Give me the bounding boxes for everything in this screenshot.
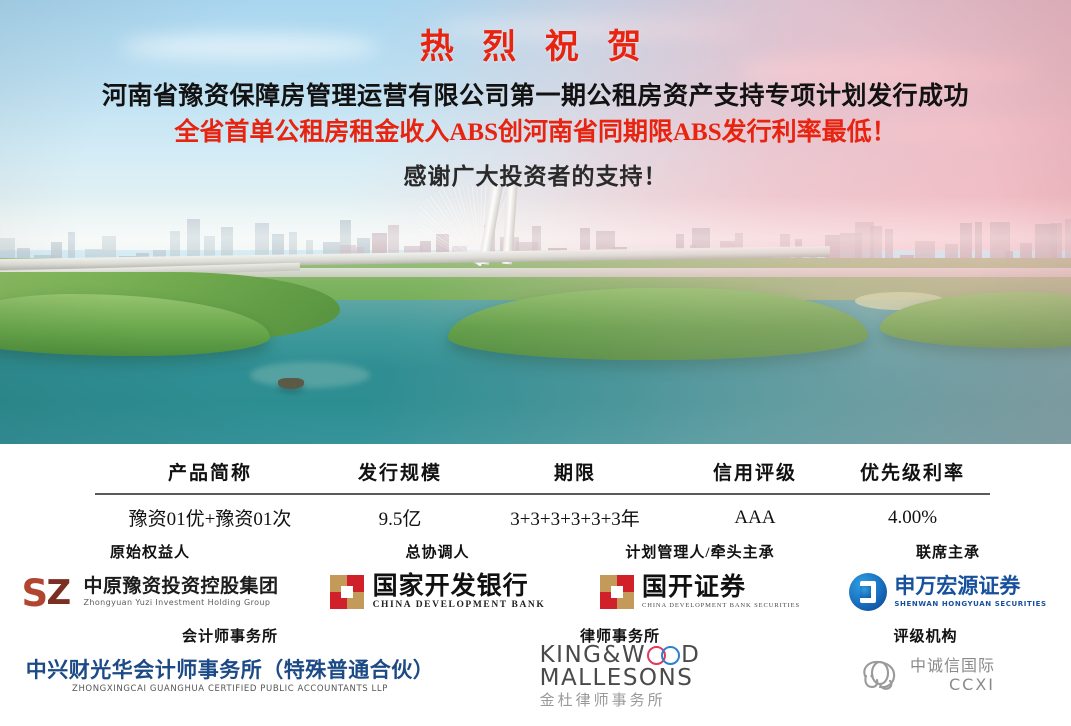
- partner-role-label: 联席主承: [916, 541, 980, 562]
- elephant-icon: [856, 656, 904, 696]
- partner-name-cn: 国家开发银行: [373, 573, 546, 599]
- table-cell: 4.00%: [835, 494, 990, 537]
- product-spec-table: 产品简称 发行规模 期限 信用评级 优先级利率 豫资01优+豫资01次 9.5亿…: [95, 452, 990, 537]
- kwm-text-part-1: KING&W: [540, 644, 647, 667]
- headline-title: 热 烈 祝 贺: [0, 28, 1071, 67]
- boat-wake: [250, 362, 370, 388]
- partner-name-en: CHINA DEVELOPMENT BANK: [373, 601, 546, 611]
- table-cell: 3+3+3+3+3+3年: [475, 494, 675, 537]
- partner-role-label: 评级机构: [893, 625, 957, 646]
- ccxi-logo: 中诚信国际 CCXI: [856, 653, 995, 699]
- syz-logo: SZ 中原豫资投资控股集团 Zhongyuan Yuzi Investment …: [21, 569, 278, 615]
- cdb-square-icon: [330, 575, 364, 609]
- partner-row-primary: 原始权益人 SZ 中原豫资投资控股集团 Zhongyuan Yuzi Inves…: [0, 541, 1071, 615]
- boat: [278, 378, 304, 389]
- headline-line-2: 全省首单公租房租金收入ABS创河南省同期限ABS发行利率最低！: [0, 117, 1071, 148]
- syz-mark-icon: SZ: [21, 575, 75, 609]
- table-header-cell: 期限: [475, 452, 675, 494]
- headline-line-3: 感谢广大投资者的支持！: [0, 157, 1071, 191]
- partner-name-en: SHENWAN HONGYUAN SECURITIES: [894, 601, 1046, 608]
- table-header-cell: 产品简称: [95, 452, 325, 494]
- cdb-square-icon: [600, 575, 634, 609]
- shenwan-hongyuan-logo: 申万宏源证券 SHENWAN HONGYUAN SECURITIES: [849, 569, 1046, 615]
- table-cell: 9.5亿: [325, 494, 475, 537]
- kwm-text-part-3: MALLESONS: [540, 667, 694, 690]
- headline-line-1: 河南省豫资保障房管理运营有限公司第一期公租房资产支持专项计划发行成功: [0, 81, 1071, 112]
- king-wood-mallesons-logo: KING&W D MALLESONS 金杜律师事务所: [540, 653, 701, 699]
- kwm-blue-ring-icon: [661, 646, 680, 665]
- partner-rating-agency: 评级机构: [780, 625, 1071, 699]
- partner-coordinator: 总协调人 国家开发银行 CHINA DEVELOPMENT BANK: [300, 541, 575, 615]
- partner-law-firm: 律师事务所 KING&W D MALLESONS 金杜律师事务所: [460, 625, 780, 699]
- partner-name-cn: 申万宏源证券: [894, 576, 1046, 597]
- table-row: 豫资01优+豫资01次 9.5亿 3+3+3+3+3+3年 AAA 4.00%: [95, 494, 990, 537]
- partner-name-cn: 中原豫资投资控股集团: [83, 577, 278, 597]
- partner-name-en: CHINA DEVELOPMENT BANK SECURITIES: [642, 603, 800, 610]
- kwm-text-part-2: D: [681, 644, 700, 667]
- partner-role-label: 会计师事务所: [182, 625, 278, 646]
- table-header-row: 产品简称 发行规模 期限 信用评级 优先级利率: [95, 452, 990, 494]
- table-header-cell: 优先级利率: [835, 452, 990, 494]
- partner-role-label: 总协调人: [405, 541, 469, 562]
- cdb-securities-logo: 国开证券 CHINA DEVELOPMENT BANK SECURITIES: [600, 569, 800, 615]
- partner-name-en: Zhongyuan Yuzi Investment Holding Group: [83, 599, 278, 607]
- partner-name-en: CCXI: [949, 677, 995, 694]
- partner-name-cn: 中诚信国际: [910, 658, 995, 675]
- congratulations-poster: 热 烈 祝 贺 河南省豫资保障房管理运营有限公司第一期公租房资产支持专项计划发行…: [0, 0, 1071, 726]
- shenwan-circle-icon: [849, 573, 887, 611]
- partner-name-en: ZHONGXINGCAI GUANGHUA CERTIFIED PUBLIC A…: [72, 685, 388, 694]
- zhongxingcai-guanghua-logo: 中兴财光华会计师事务所（特殊普通合伙） ZHONGXINGCAI GUANGHU…: [26, 653, 435, 699]
- partner-auditor: 会计师事务所 中兴财光华会计师事务所（特殊普通合伙） ZHONGXINGCAI …: [0, 625, 460, 699]
- table-header-cell: 发行规模: [325, 452, 475, 494]
- partner-joint-lead: 联席主承 申万宏源证券 SHENWAN HONGYUAN SECURITIES: [825, 541, 1071, 615]
- partner-originator: 原始权益人 SZ 中原豫资投资控股集团 Zhongyuan Yuzi Inves…: [0, 541, 300, 615]
- partner-name-cn: 中兴财光华会计师事务所（特殊普通合伙）: [26, 659, 435, 681]
- table-header-cell: 信用评级: [675, 452, 835, 494]
- info-panel: 产品简称 发行规模 期限 信用评级 优先级利率 豫资01优+豫资01次 9.5亿…: [0, 444, 1071, 726]
- partner-role-label: 原始权益人: [110, 541, 190, 562]
- partner-plan-manager: 计划管理人/牵头主承 国开证券 CHINA DEVELOPMENT BANK S…: [575, 541, 825, 615]
- table-cell: AAA: [675, 494, 835, 537]
- table-cell: 豫资01优+豫资01次: [95, 494, 325, 537]
- partner-name-cn: 国开证券: [642, 574, 800, 600]
- cdb-logo: 国家开发银行 CHINA DEVELOPMENT BANK: [330, 569, 546, 615]
- headline-block: 热 烈 祝 贺 河南省豫资保障房管理运营有限公司第一期公租房资产支持专项计划发行…: [0, 28, 1071, 191]
- partner-name-cn: 金杜律师事务所: [540, 693, 666, 708]
- partner-row-secondary: 会计师事务所 中兴财光华会计师事务所（特殊普通合伙） ZHONGXINGCAI …: [0, 625, 1071, 699]
- partner-role-label: 计划管理人/牵头主承: [625, 541, 774, 562]
